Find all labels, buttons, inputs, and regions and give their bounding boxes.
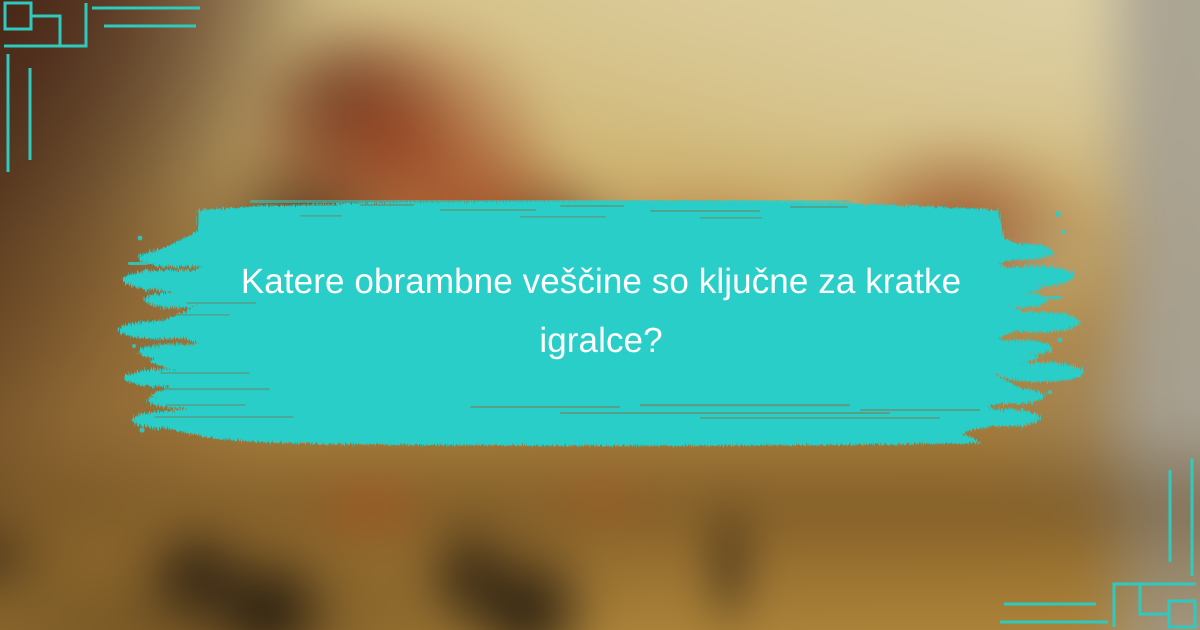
corner-ornament-top-left xyxy=(0,0,200,180)
quote-text: Katere obrambne veščine so ključne za kr… xyxy=(190,252,1012,370)
corner-frame-br-icon xyxy=(1000,450,1200,630)
quote-line-2: igralce? xyxy=(190,311,1012,370)
quote-line-1: Katere obrambne veščine so ključne za kr… xyxy=(190,252,1012,311)
quote-card: Katere obrambne veščine so ključne za kr… xyxy=(0,0,1200,630)
corner-ornament-bottom-right xyxy=(1000,450,1200,630)
corner-frame-tl-icon xyxy=(0,0,200,180)
